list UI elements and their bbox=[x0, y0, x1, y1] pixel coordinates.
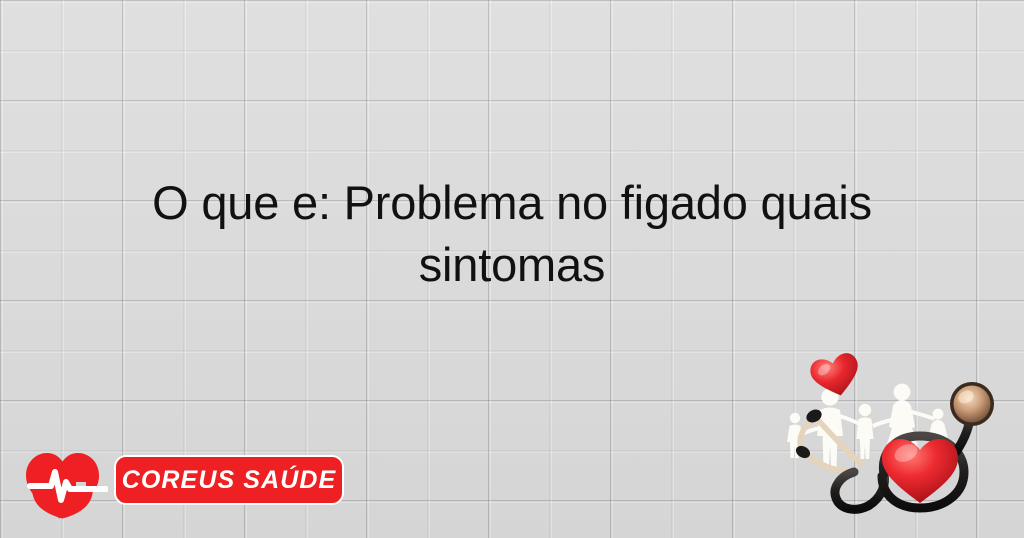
health-family-stethoscope-illustration bbox=[778, 348, 1024, 538]
stethoscope-chestpiece-icon bbox=[950, 382, 994, 426]
large-heart-icon bbox=[882, 439, 958, 503]
heart-ecg-icon bbox=[24, 448, 108, 520]
slide-canvas: O que e: Problema no figado quais sintom… bbox=[0, 0, 1024, 538]
brand-name-plate: COREUS SAÚDE bbox=[114, 455, 344, 505]
page-title: O que e: Problema no figado quais sintom… bbox=[60, 172, 964, 296]
brand-logo[interactable]: COREUS SAÚDE bbox=[24, 444, 354, 520]
brand-name-label: COREUS SAÚDE bbox=[122, 466, 337, 495]
